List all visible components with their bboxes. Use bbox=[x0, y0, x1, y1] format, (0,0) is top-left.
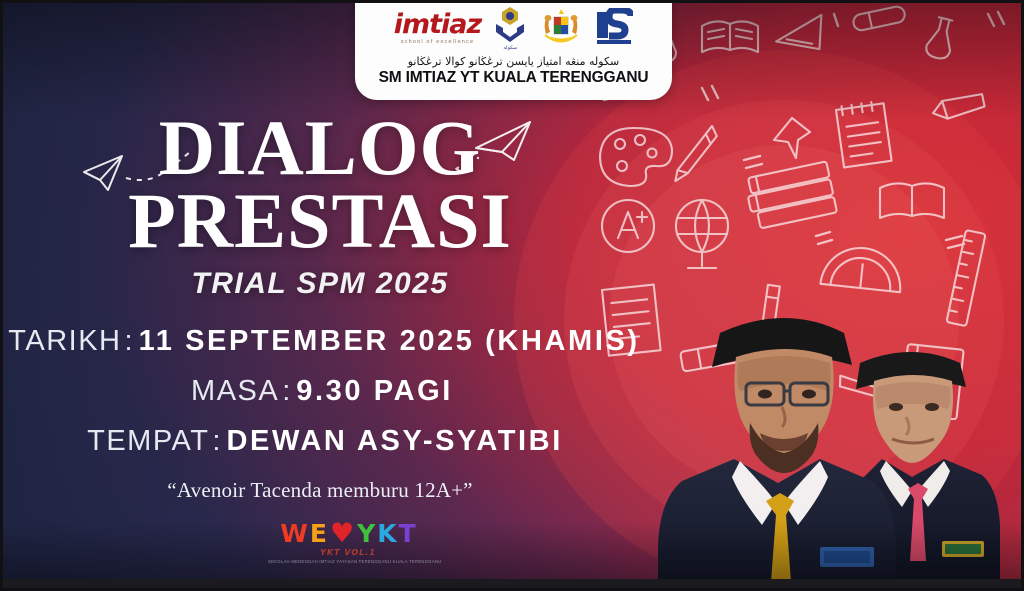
ykt-letter-w: W bbox=[280, 521, 308, 546]
detail-row-tarikh: TARIKH : 11 SEPTEMBER 2025 (KHAMIS) bbox=[0, 325, 640, 358]
detail-value-tarikh: 11 SEPTEMBER 2025 (KHAMIS) bbox=[139, 325, 640, 358]
imtiaz-logo-tagline: school of excellence bbox=[401, 40, 475, 46]
sekolah-imtiaz-crest-logo: سكوله bbox=[493, 6, 527, 51]
ykt-letter-k: K bbox=[377, 521, 396, 546]
ykt-letter-y: Y bbox=[357, 521, 375, 546]
detail-value-tempat: DEWAN ASY-SYATIBI bbox=[226, 425, 562, 458]
detail-label-tempat: TEMPAT bbox=[87, 425, 209, 458]
header-badge: imtiaz school of excellence سكوله bbox=[355, 0, 672, 100]
detail-separator-tempat: : bbox=[212, 425, 220, 458]
heart-icon: ♥ bbox=[330, 520, 354, 547]
detail-separator-masa: : bbox=[282, 375, 290, 408]
imtiaz-logo: imtiaz school of excellence bbox=[394, 11, 482, 46]
poster-title: DIALOG PRESTASI TRIAL SPM 2025 bbox=[0, 112, 640, 301]
ykt-sub-line-2: SEKOLAH MENENGAH IMTIAZ YAYASAN TERENGGA… bbox=[268, 559, 428, 564]
bottom-bar bbox=[0, 579, 1024, 591]
detail-row-masa: MASA : 9.30 PAGI bbox=[0, 375, 640, 408]
detail-label-tarikh: TARIKH bbox=[8, 325, 121, 358]
poster-subtitle: TRIAL SPM 2025 bbox=[0, 267, 640, 301]
title-line-1: DIALOG bbox=[0, 112, 640, 185]
detail-row-tempat: TEMPAT : DEWAN ASY-SYATIBI bbox=[0, 425, 640, 458]
ring-inner bbox=[609, 145, 959, 495]
crest-jawi-text: سكوله bbox=[503, 45, 517, 51]
badge-logo-row: imtiaz school of excellence سكوله bbox=[355, 2, 672, 54]
detail-value-masa: 9.30 PAGI bbox=[296, 375, 453, 408]
ykt-letter-e: E bbox=[310, 521, 327, 546]
detail-separator-tarikh: : bbox=[125, 325, 133, 358]
is-monogram-logo bbox=[595, 8, 633, 48]
ykt-wordmark: W E ♥ Y K T bbox=[268, 520, 428, 547]
imtiaz-logo-word: imtiaz bbox=[394, 11, 482, 38]
event-poster: imtiaz school of excellence سكوله bbox=[0, 0, 1024, 591]
event-details: TARIKH : 11 SEPTEMBER 2025 (KHAMIS) MASA… bbox=[0, 325, 640, 475]
ykt-sub-line-1: YKT VOL.1 bbox=[268, 548, 428, 557]
motto-quote: “Avenoir Tacenda memburu 12A+” bbox=[0, 478, 640, 503]
detail-label-masa: MASA bbox=[191, 375, 279, 408]
badge-jawi-line: سکوله منڠه امتياز يايسن ترڠڬانو کوالا تر… bbox=[408, 55, 620, 68]
badge-school-name: SM IMTIAZ YT KUALA TERENGGANU bbox=[379, 69, 649, 87]
we-love-ykt-mark: W E ♥ Y K T YKT VOL.1 SEKOLAH MENENGAH I… bbox=[268, 520, 428, 564]
malaysia-coat-of-arms-logo bbox=[539, 8, 583, 48]
ykt-letter-t: T bbox=[399, 521, 416, 546]
title-line-2: PRESTASI bbox=[0, 185, 640, 258]
